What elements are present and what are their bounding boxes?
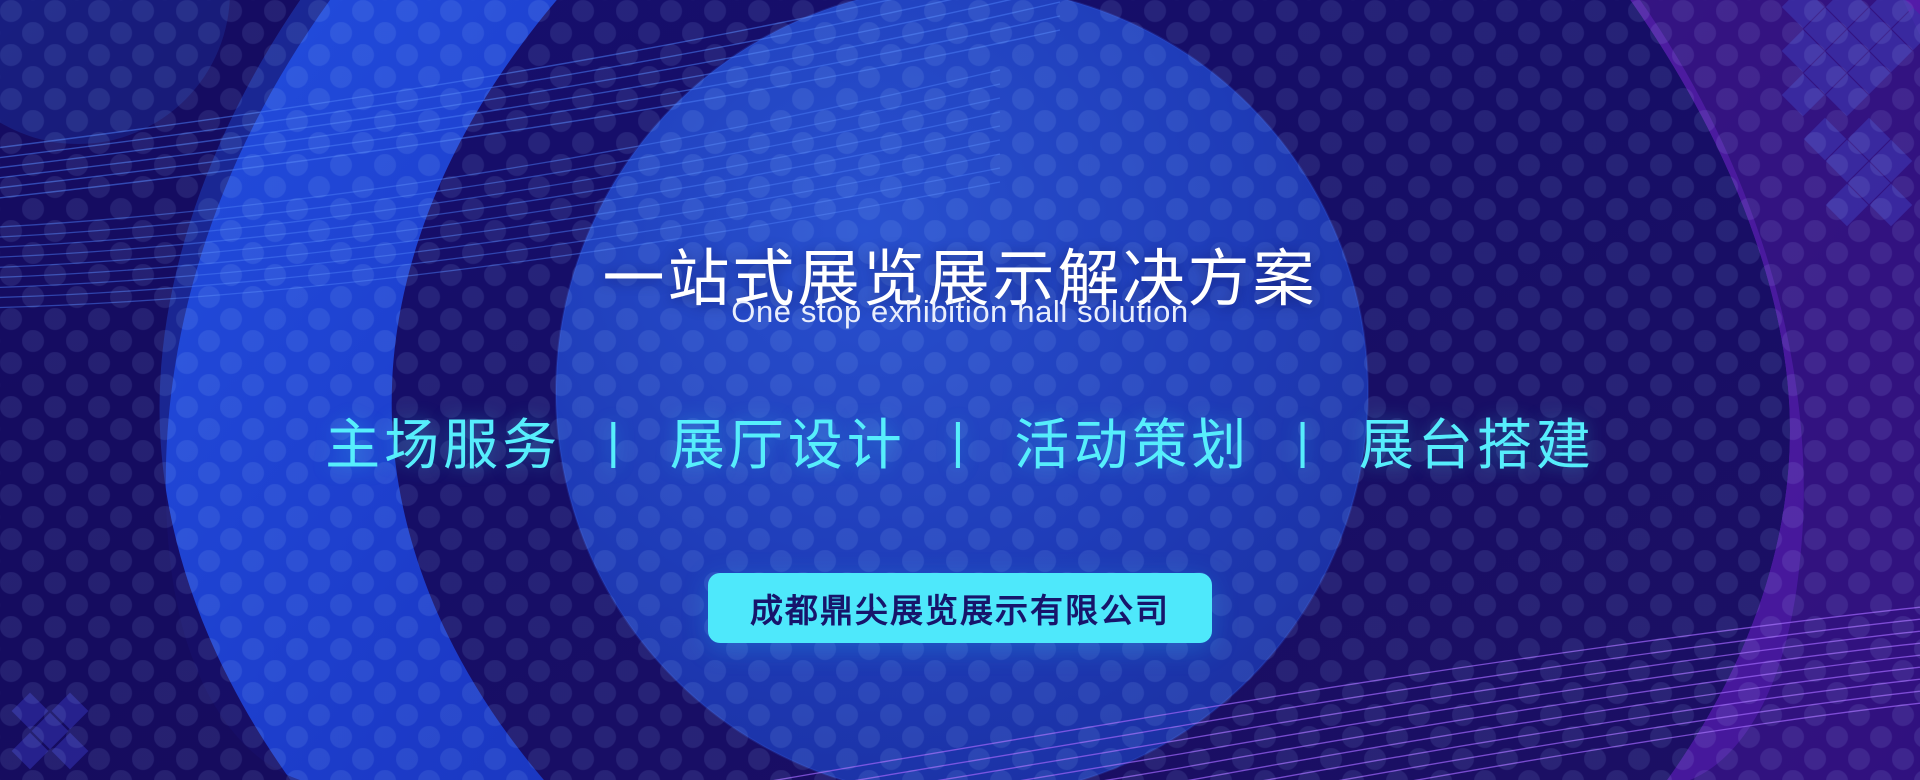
service-separator-icon: 丨 bbox=[925, 419, 995, 475]
cta-container: 成都鼎尖展览展示有限公司 bbox=[0, 573, 1920, 643]
service-item-2: 展厅设计 bbox=[670, 414, 906, 476]
services-list: 主场服务 丨 展厅设计 丨 活动策划 丨 展台搭建 bbox=[0, 400, 1920, 480]
service-item-4: 展台搭建 bbox=[1359, 414, 1595, 476]
service-item-3: 活动策划 bbox=[1014, 414, 1250, 476]
page-subtitle: One stop exhibition hall solution bbox=[0, 294, 1920, 330]
promo-banner: 一站式展览展示解决方案 One stop exhibition hall sol… bbox=[0, 0, 1920, 780]
service-separator-icon: 丨 bbox=[580, 419, 650, 475]
service-item-1: 主场服务 bbox=[325, 414, 561, 476]
company-name-button[interactable]: 成都鼎尖展览展示有限公司 bbox=[708, 573, 1212, 643]
banner-content: 一站式展览展示解决方案 One stop exhibition hall sol… bbox=[0, 0, 1920, 780]
service-separator-icon: 丨 bbox=[1270, 419, 1340, 475]
